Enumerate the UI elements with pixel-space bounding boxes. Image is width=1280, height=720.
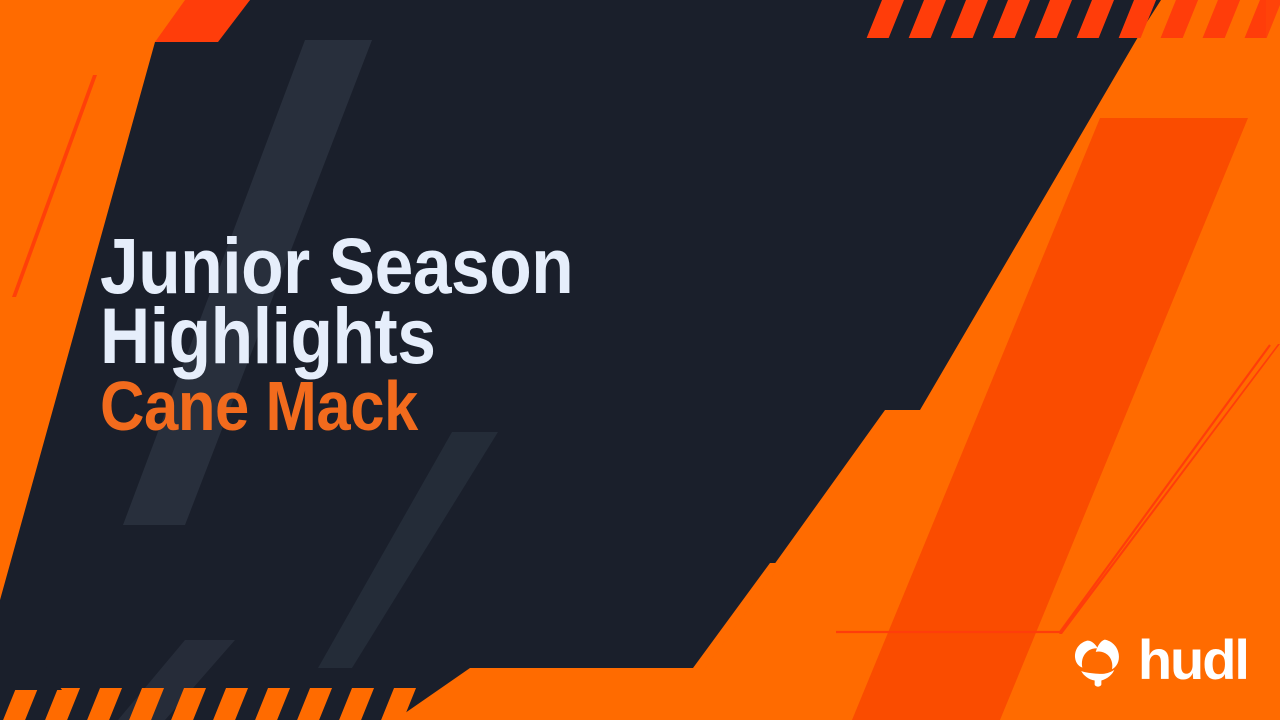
- title-line-2: Highlights: [100, 301, 769, 371]
- top-right-hatch-band: [866, 0, 1280, 38]
- title-line-3-athlete-name: Cane Mack: [100, 370, 769, 438]
- title-block: Junior Season Highlights Cane Mack: [100, 231, 860, 438]
- highlight-title-card: Junior Season Highlights Cane Mack hudl: [0, 0, 1280, 720]
- bottom-left-hatch-band: [0, 688, 420, 720]
- hudl-wordmark: hudl: [1138, 632, 1248, 688]
- hudl-logo: hudl: [1070, 634, 1248, 690]
- hudl-bison-mark: [1070, 634, 1126, 690]
